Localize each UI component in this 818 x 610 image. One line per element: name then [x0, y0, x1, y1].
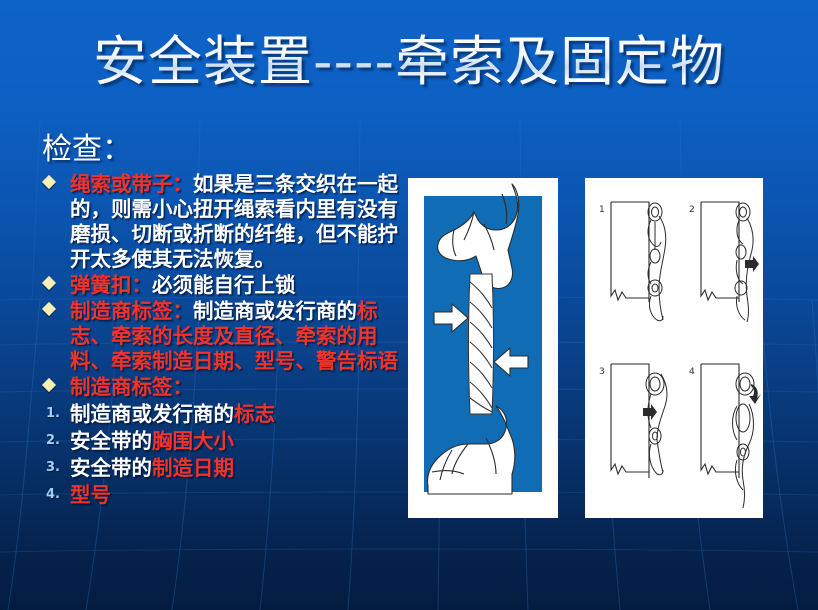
- bullet-label: 绳索或带子: [70, 172, 173, 196]
- list-item: 制造商标签：: [38, 375, 398, 400]
- bullet-separator: ：: [132, 273, 153, 297]
- diamond-bullet-icon: [42, 302, 56, 316]
- step-number-3: 3: [599, 367, 605, 377]
- item-text-highlight: 胸围大小: [152, 429, 234, 453]
- presentation-slide: 安全装置----牵索及固定物 检查： 绳索或带子：如果是三条交织在一起的，则需小…: [0, 0, 818, 610]
- item-text-highlight: 标志: [234, 402, 275, 426]
- bullet-separator: ：: [173, 299, 194, 323]
- item-text-highlight: 型号: [70, 483, 111, 507]
- rope-inspection-image: [408, 178, 558, 518]
- list-number: 3.: [46, 460, 60, 476]
- bullet-separator: ：: [173, 172, 194, 196]
- bullet-list: 绳索或带子：如果是三条交织在一起的，则需小心扭开绳索看内里有没有磨损、切断或折断…: [38, 172, 398, 400]
- slide-title: 安全装置----牵索及固定物: [0, 30, 818, 94]
- bullet-separator: ：: [173, 375, 194, 399]
- bullet-text: 必须能自行上锁: [152, 273, 296, 297]
- bullet-label: 制造商标签: [70, 375, 173, 399]
- section-heading: 检查：: [42, 132, 398, 168]
- list-number: 1.: [46, 406, 60, 422]
- item-text: 安全带的: [70, 429, 152, 453]
- snap-hook-steps-image: 1 2: [585, 178, 763, 518]
- bullet-text: 制造商或发行商的: [193, 299, 357, 323]
- list-item: 4. 型号: [38, 482, 398, 508]
- list-item: 制造商标签：制造商或发行商的标志、牵索的长度及直径、牵索的用料、牵索制造日期、型…: [38, 299, 398, 374]
- item-text: 制造商或发行商的: [70, 402, 234, 426]
- list-item: 绳索或带子：如果是三条交织在一起的，则需小心扭开绳索看内里有没有磨损、切断或折断…: [38, 172, 398, 272]
- step-number-1: 1: [599, 205, 605, 215]
- list-number: 2.: [46, 433, 60, 449]
- content-body: 检查： 绳索或带子：如果是三条交织在一起的，则需小心扭开绳索看内里有没有磨损、切…: [38, 132, 398, 509]
- numbered-list: 1. 制造商或发行商的标志 2. 安全带的胸围大小 3. 安全带的制造日期 4.…: [38, 401, 398, 508]
- list-item: 2. 安全带的胸围大小: [38, 428, 398, 454]
- bullet-label: 制造商标签: [70, 299, 173, 323]
- diamond-bullet-icon: [42, 378, 56, 392]
- list-item: 1. 制造商或发行商的标志: [38, 401, 398, 427]
- bullet-label: 弹簧扣: [70, 273, 132, 297]
- diamond-bullet-icon: [42, 175, 56, 189]
- step-number-4: 4: [689, 367, 695, 377]
- item-text-highlight: 制造日期: [152, 456, 234, 480]
- item-text: 安全带的: [70, 456, 152, 480]
- step-number-2: 2: [689, 205, 695, 215]
- diamond-bullet-icon: [42, 276, 56, 290]
- list-item: 3. 安全带的制造日期: [38, 455, 398, 481]
- list-number: 4.: [46, 487, 60, 503]
- list-item: 弹簧扣：必须能自行上锁: [38, 273, 398, 298]
